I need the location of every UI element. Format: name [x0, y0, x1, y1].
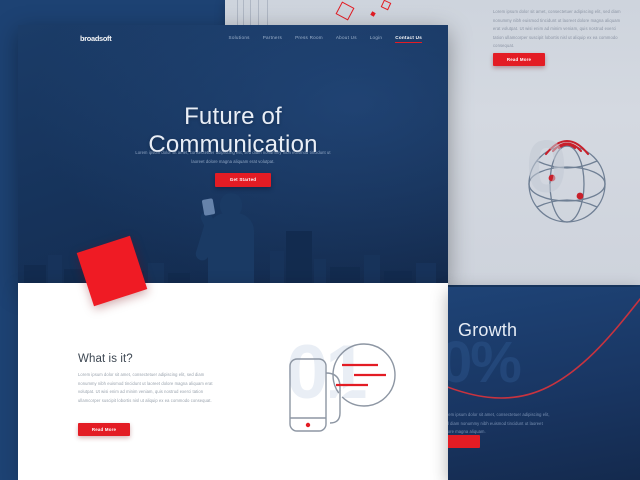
home-button-dot-icon: [306, 423, 310, 427]
read-more-button-growth[interactable]: [448, 435, 480, 448]
light-panel-paragraph: Lorem ipsum dolor sit amet, consectetuer…: [493, 8, 623, 51]
diamond-solid-dot-icon: [370, 11, 375, 16]
smartphone-speech-bubble-icon: [280, 333, 420, 453]
what-is-it-panel: What is it? Lorem ipsum dolor sit amet, …: [18, 283, 448, 480]
nav-item-partners[interactable]: Partners: [263, 35, 282, 40]
growth-panel: 0% Growth Lorem ipsum dolor sit amet, co…: [448, 287, 640, 480]
read-more-button-top[interactable]: Read More: [493, 53, 545, 66]
what-is-it-paragraph: Lorem ipsum dolor sit amet, consectetuer…: [78, 371, 216, 405]
get-started-button[interactable]: Get Started: [215, 173, 271, 187]
growth-curve-chart: [448, 287, 640, 480]
person-silhouette: [200, 193, 264, 285]
hero-panel: broadsoft Solutions Partners Press Room …: [18, 25, 448, 285]
nav-item-press-room[interactable]: Press Room: [295, 35, 323, 40]
growth-paragraph: Lorem ipsum dolor sit amet, consectetuer…: [448, 411, 554, 437]
read-more-button-top-label: Read More: [493, 53, 545, 66]
hero-headline-line-1: Future of: [184, 103, 282, 130]
brand-logo[interactable]: broadsoft: [80, 34, 111, 43]
screenshot-canvas: Lorem ipsum dolor sit amet, consectetuer…: [0, 0, 640, 480]
nav-item-about-us[interactable]: About Us: [336, 35, 357, 40]
nav-item-contact-us[interactable]: Contact Us: [395, 35, 422, 40]
top-navigation-bar: broadsoft Solutions Partners Press Room …: [18, 25, 448, 55]
phone-chat-illustration: [280, 333, 420, 453]
read-more-button-what[interactable]: Read More: [78, 423, 130, 436]
diamond-outline-icon: [336, 2, 355, 21]
nav-item-login[interactable]: Login: [370, 35, 383, 40]
ghost-number-decor: 0: [526, 130, 563, 204]
what-is-it-title: What is it?: [78, 353, 133, 365]
nav-links: Solutions Partners Press Room About Us L…: [229, 35, 422, 40]
nav-item-solutions[interactable]: Solutions: [229, 35, 250, 40]
hero-paragraph: Lorem ipsum dolor sit amet, consectetuer…: [133, 149, 333, 166]
get-started-button-label: Get Started: [215, 173, 271, 187]
phone-in-hand-icon: [202, 198, 216, 216]
location-pin-2-icon: [577, 193, 584, 200]
read-more-button-what-label: Read More: [78, 423, 130, 436]
diamond-outline-small-icon: [381, 0, 392, 10]
globe-illustration: 0: [508, 120, 626, 235]
